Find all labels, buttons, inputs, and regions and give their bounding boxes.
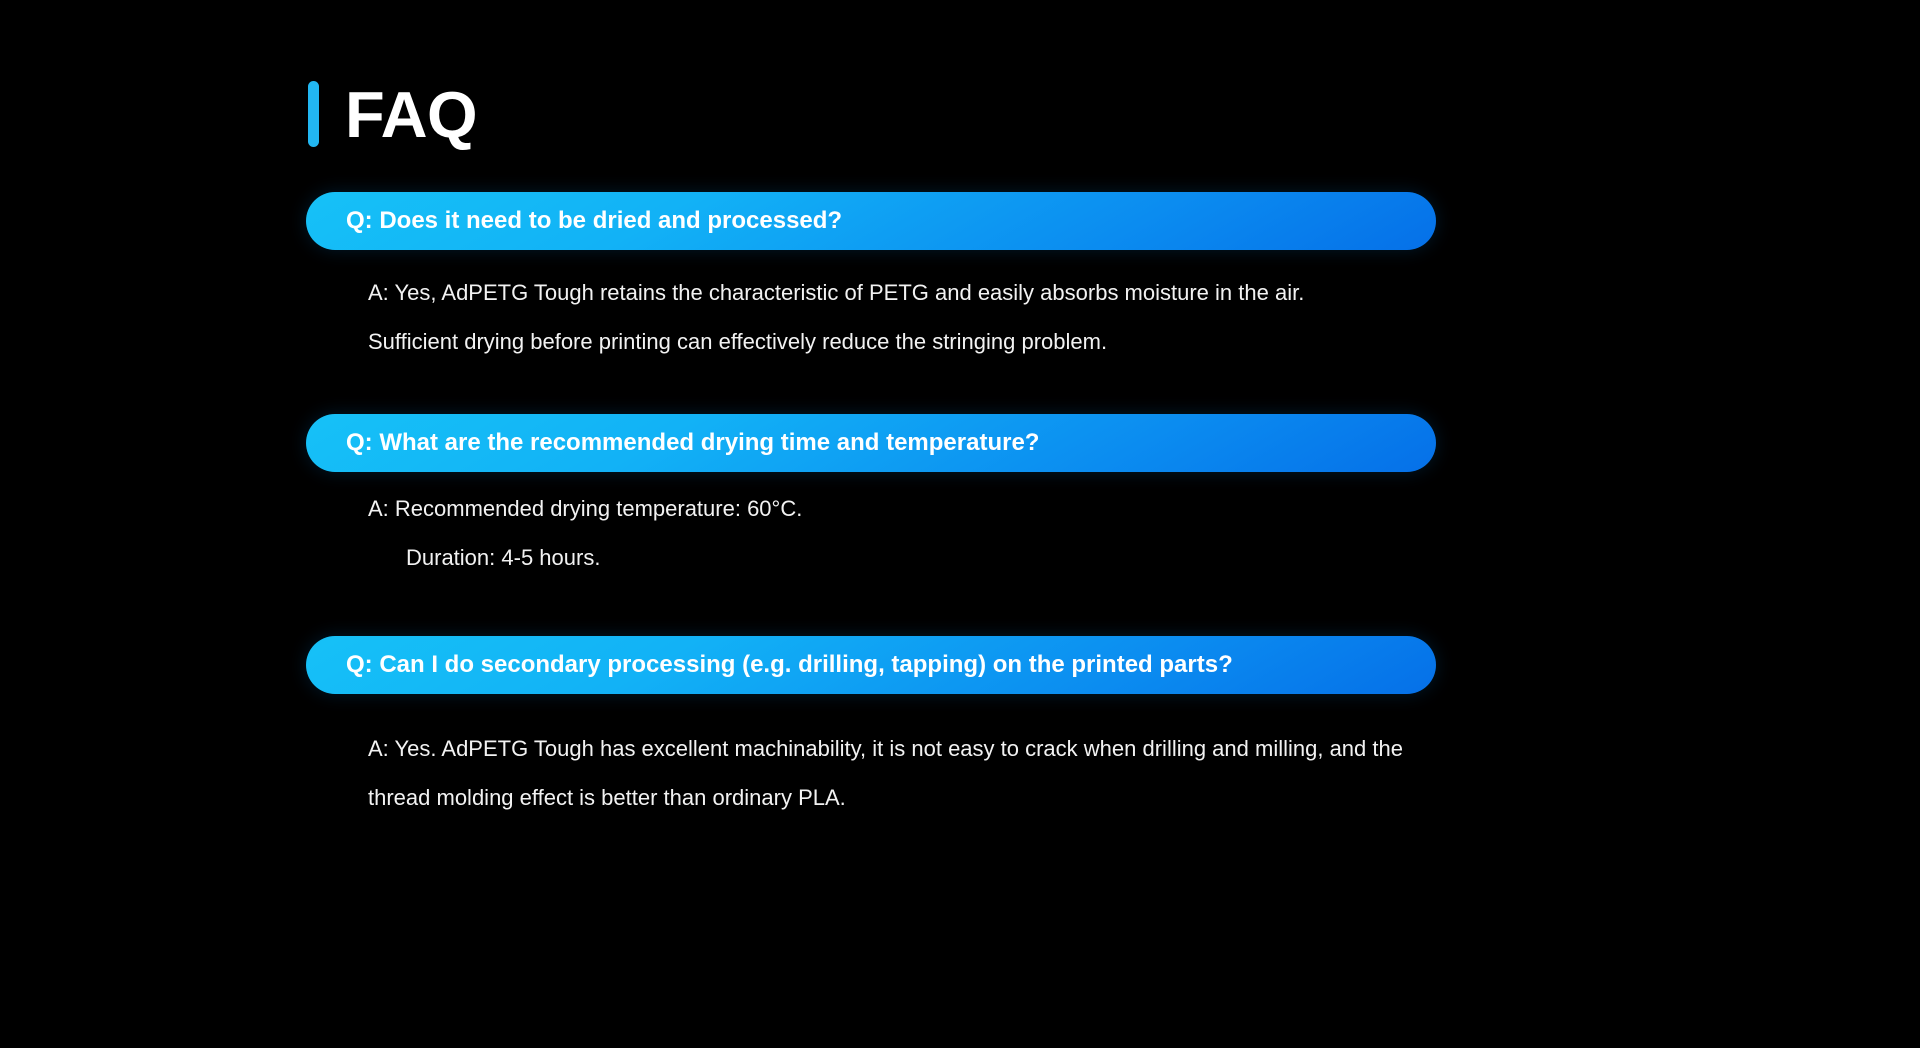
faq-answer-line: Sufficient drying before printing can ef… [368, 317, 1616, 366]
page-heading: FAQ [308, 78, 477, 150]
faq-answer-line: A: Yes, AdPETG Tough retains the charact… [368, 268, 1616, 317]
faq-question-pill[interactable]: Q: Can I do secondary processing (e.g. d… [306, 636, 1436, 694]
faq-answer: A: Yes, AdPETG Tough retains the charact… [306, 268, 1626, 366]
faq-item: Q: Does it need to be dried and processe… [306, 192, 1626, 366]
faq-answer-line: thread molding effect is better than ord… [368, 773, 1616, 822]
faq-answer-line: A: Recommended drying temperature: 60°C. [368, 484, 1616, 533]
faq-question-pill[interactable]: Q: Does it need to be dried and processe… [306, 192, 1436, 250]
faq-answer: A: Recommended drying temperature: 60°C.… [306, 484, 1626, 582]
faq-item: Q: What are the recommended drying time … [306, 414, 1626, 582]
faq-question-text: Q: What are the recommended drying time … [346, 430, 1039, 456]
faq-list: Q: Does it need to be dried and processe… [306, 192, 1626, 844]
faq-question-pill[interactable]: Q: What are the recommended drying time … [306, 414, 1436, 472]
faq-question-text: Q: Does it need to be dried and processe… [346, 208, 842, 234]
faq-item: Q: Can I do secondary processing (e.g. d… [306, 636, 1626, 822]
page-title: FAQ [345, 82, 477, 147]
accent-bar-icon [308, 81, 319, 147]
faq-answer-line: A: Yes. AdPETG Tough has excellent machi… [368, 724, 1616, 773]
faq-answer-line: Duration: 4-5 hours. [368, 533, 1616, 582]
faq-question-text: Q: Can I do secondary processing (e.g. d… [346, 652, 1233, 678]
faq-answer: A: Yes. AdPETG Tough has excellent machi… [306, 724, 1626, 822]
faq-page: FAQ Q: Does it need to be dried and proc… [0, 0, 1920, 1048]
